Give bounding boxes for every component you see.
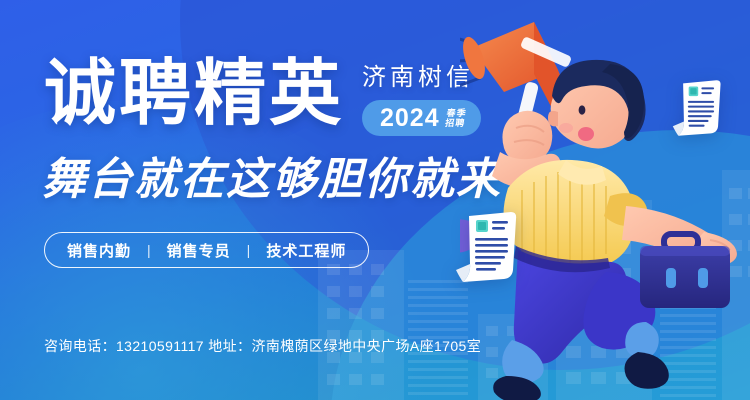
headline: 诚聘精英 — [44, 58, 344, 130]
green-hook-accent — [350, 94, 376, 142]
job-positions-pill: 销售内勤 | 销售专员 | 技术工程师 — [44, 232, 369, 268]
character-illustration — [460, 0, 750, 400]
job-position: 技术工程师 — [266, 240, 346, 261]
job-position: 销售内勤 — [67, 240, 131, 261]
season-char: 春 — [446, 108, 456, 118]
separator: | — [131, 242, 167, 258]
resume-paper-icon — [455, 210, 523, 284]
separator: | — [231, 242, 267, 258]
resume-paper-icon — [672, 78, 726, 138]
contact-info: 咨询电话：13210591117 地址：济南槐荫区绿地中央广场A座1705室 — [44, 336, 481, 356]
job-position: 销售专员 — [167, 240, 231, 261]
recruitment-banner: 诚聘精英 济南树信 2024 春 季 招 聘 舞台就在这够胆你就来！ 销售内勤 … — [0, 0, 750, 400]
season-char: 招 — [444, 118, 454, 128]
year-label: 2024 — [380, 106, 440, 131]
